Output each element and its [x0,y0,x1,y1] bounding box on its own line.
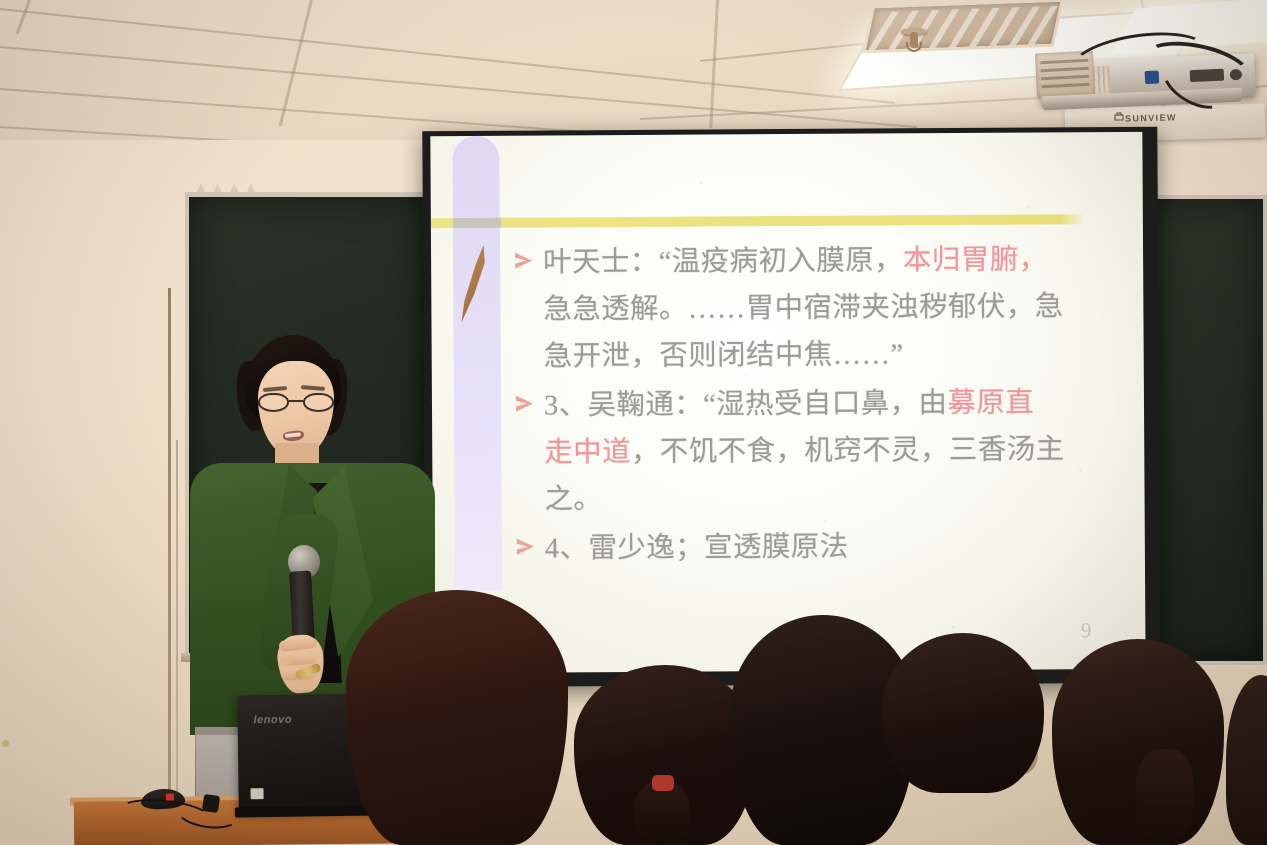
fire-sprinkler-icon [901,28,927,58]
bullet-arrow-icon [515,253,532,269]
slide-line-7: 4、雷少逸；宣透膜原法 [545,522,1115,572]
slide-line-1: 叶天士：“温疫病初入膜原，本归胃腑， [543,236,1113,286]
student-4 [872,633,1060,845]
student-1 [336,590,580,845]
eyeglasses [257,393,337,413]
slide-decorative-band [452,136,502,591]
slide-line-3: 急开泄，否则闭结中焦……” [544,330,1114,380]
laptop-sticker [250,788,263,799]
wall-crack-secondary [176,440,178,845]
sunview-logo-icon [1114,112,1124,122]
student-6-hair [1226,675,1267,845]
student-6-partial [1226,675,1267,845]
usb-dongle [202,794,220,813]
slide-line-6: 之。 [544,473,1114,523]
bullet-arrow-icon [516,396,533,412]
highlight-text-2: 募原直 [947,388,1034,420]
projector-brand-label: SUNVIEW [1125,112,1177,123]
student-5 [1040,639,1240,845]
highlight-text-1: 本归胃腑 [903,245,1019,277]
highlight-text-3: 走中道 [544,437,631,469]
laptop-brand-label: lenovo [253,714,292,727]
finger-ring [281,661,290,666]
wall-crack [168,288,171,845]
slide-accent-bar-gray-segment [453,218,501,228]
slide-content: 叶天士：“温疫病初入膜原，本归胃腑， 急急透解。……胃中宿滞夹浊秽郁伏，急 急开… [513,236,1115,575]
slide-bullet-2: 3、吴鞠通：“湿热受自口鼻，由募原直 走中道，不饥不食，机窍不灵，三香汤主 之。 [514,379,1115,524]
slide-line-5: 走中道，不饥不食，机窍不灵，三香汤主 [544,426,1114,476]
slide-bullet-1: 叶天士：“温疫病初入膜原，本归胃腑， 急急透解。……胃中宿滞夹浊秽郁伏，急 急开… [513,236,1114,381]
student-2-hair-tie [652,775,674,791]
slide-line-4: 3、吴鞠通：“湿热受自口鼻，由募原直 [544,379,1114,429]
classroom-photo: SUNVIEW 叶天士：“温疫病初入膜原，本归胃腑， 急急透解。……胃中宿滞夹浊… [0,0,1267,845]
student-5-ponytail [1136,749,1194,845]
slide-line-2: 急急透解。……胃中宿滞夹浊秽郁伏，急 [543,283,1113,333]
bullet-arrow-icon [517,539,534,555]
student-4-hair [882,633,1044,793]
student-1-hair [346,590,568,845]
slide-bullet-3: 4、雷少逸；宣透膜原法 [515,522,1115,573]
